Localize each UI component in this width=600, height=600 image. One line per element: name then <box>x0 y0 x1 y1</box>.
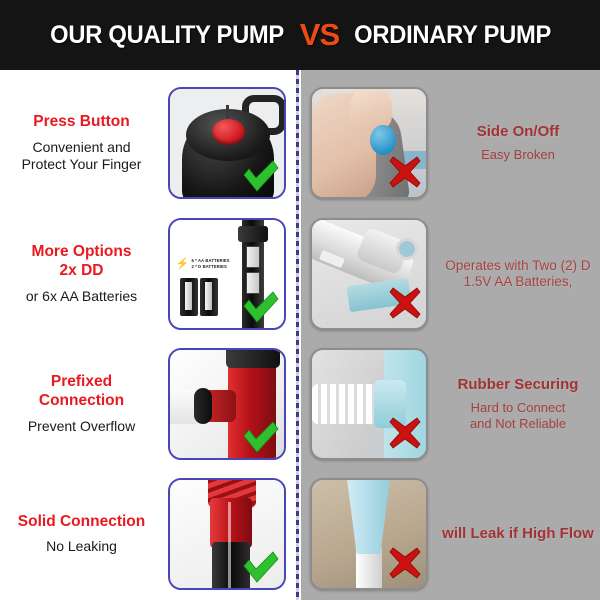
row-3-ordinary-photo-cell <box>301 348 436 460</box>
row-4-ordinary-photo-cell <box>301 478 436 590</box>
row-1-quality-subtitle: Convenient and Protect Your Finger <box>6 139 157 173</box>
row-1-ordinary-title: Side On/Off <box>440 123 596 141</box>
row-4-ordinary: will Leak if High Flow <box>301 470 600 598</box>
row-4-quality: Solid Connection No Leaking <box>0 470 296 598</box>
row-1-ordinary-photo-cell <box>301 87 436 199</box>
row-2-ordinary-photo-cell <box>301 218 436 330</box>
cross-mark-icon <box>388 416 422 450</box>
row-4-quality-text: Solid Connection No Leaking <box>0 513 163 556</box>
row-1-quality-title: Press Button <box>6 113 157 132</box>
header-right-title: ORDINARY PUMP <box>354 21 551 50</box>
row-3-quality: Prefixed Connection Prevent Overflow <box>0 340 296 468</box>
row-4-ordinary-text: will Leak if High Flow <box>436 525 600 543</box>
blue-cone-hose-photo <box>310 478 428 590</box>
row-1-ordinary-subtitle: Easy Broken <box>440 147 596 163</box>
row-4-quality-subtitle: No Leaking <box>6 538 157 555</box>
battery-tube-diagram-photo: ⚡ 6 * AA BATTERIES 2 * D BATTERIES <box>168 218 286 330</box>
hand-holding-gray-spout-photo <box>310 87 428 199</box>
white-pump-blue-battery-photo <box>310 218 428 330</box>
row-3-ordinary-title: Rubber Securing <box>440 376 596 394</box>
row-3-quality-title: Prefixed Connection <box>6 373 157 411</box>
row-1-quality-text: Press Button Convenient and Protect Your… <box>0 113 163 173</box>
row-2-ordinary-title: Operates with Two (2) D 1.5V AA Batterie… <box>440 258 596 291</box>
check-mark-icon <box>240 155 280 195</box>
red-pump-side-outlet-photo <box>168 348 286 460</box>
cross-mark-icon <box>388 546 422 580</box>
cross-mark-icon <box>388 155 422 189</box>
header-vs-label: VS <box>300 17 339 53</box>
pump-cap-red-button-photo <box>168 87 286 199</box>
row-3-ordinary-subtitle: Hard to Connect and Not Reliable <box>440 400 596 432</box>
row-3-ordinary-text: Rubber Securing Hard to Connect and Not … <box>436 376 600 432</box>
center-divider <box>296 70 299 600</box>
row-1-ordinary-text: Side On/Off Easy Broken <box>436 123 600 163</box>
white-hose-blue-rubber-photo <box>310 348 428 460</box>
row-2-quality-photo-cell: ⚡ 6 * AA BATTERIES 2 * D BATTERIES <box>163 218 290 330</box>
check-mark-icon <box>240 286 280 326</box>
battery-brand-icon: ⚡ <box>176 258 190 270</box>
row-2-quality: More Options 2x DD or 6x AA Batteries ⚡ … <box>0 210 296 338</box>
battery-spec-label: 6 * AA BATTERIES 2 * D BATTERIES <box>192 258 230 269</box>
row-3-ordinary: Rubber Securing Hard to Connect and Not … <box>301 340 600 468</box>
row-4-quality-photo-cell <box>163 478 290 590</box>
header-bar: OUR QUALITY PUMP VS ORDINARY PUMP <box>0 0 600 70</box>
comparison-infographic: OUR QUALITY PUMP VS ORDINARY PUMP Press … <box>0 0 600 600</box>
row-3-quality-photo-cell <box>163 348 290 460</box>
row-2-quality-title: More Options 2x DD <box>6 243 157 281</box>
row-1-ordinary: Side On/Off Easy Broken <box>301 78 600 208</box>
row-1-quality-photo-cell <box>163 87 290 199</box>
row-1-quality: Press Button Convenient and Protect Your… <box>0 78 296 208</box>
red-black-pump-joint-photo <box>168 478 286 590</box>
row-2-ordinary-text: Operates with Two (2) D 1.5V AA Batterie… <box>436 258 600 291</box>
check-mark-icon <box>240 546 280 586</box>
row-4-ordinary-title: will Leak if High Flow <box>440 525 596 543</box>
row-4-quality-title: Solid Connection <box>6 513 157 532</box>
check-mark-icon <box>240 416 280 456</box>
row-3-quality-subtitle: Prevent Overflow <box>6 418 157 435</box>
row-2-quality-text: More Options 2x DD or 6x AA Batteries <box>0 243 163 305</box>
row-2-quality-subtitle: or 6x AA Batteries <box>6 288 157 305</box>
header-left-title: OUR QUALITY PUMP <box>50 21 284 50</box>
cross-mark-icon <box>388 286 422 320</box>
row-2-ordinary: Operates with Two (2) D 1.5V AA Batterie… <box>301 210 600 338</box>
row-3-quality-text: Prefixed Connection Prevent Overflow <box>0 373 163 435</box>
